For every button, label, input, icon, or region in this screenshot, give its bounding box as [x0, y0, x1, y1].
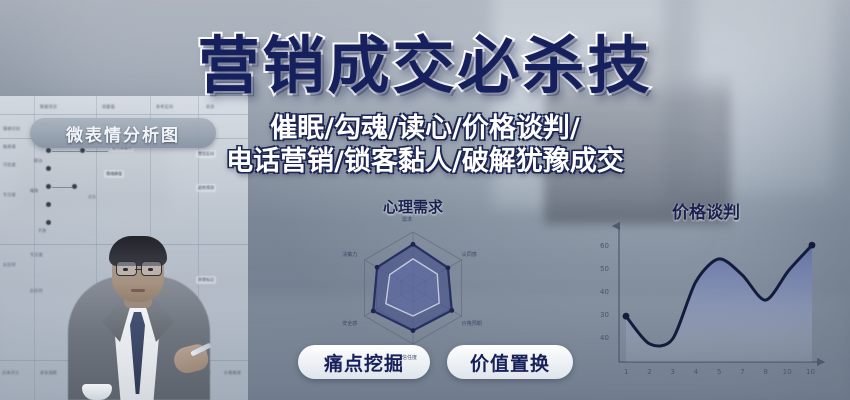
panel-node-dot — [46, 220, 51, 225]
radar-axis-label: 需求 — [402, 216, 412, 223]
marketing-banner: 数据项目 测量值 参考区间 状态 备注 评分 情绪识别 微表情 可信度 专注度 … — [0, 0, 850, 400]
line-chart-x-tick: 7 — [740, 368, 744, 376]
radar-chart-svg — [318, 196, 508, 360]
line-chart-x-tick: 10 — [806, 368, 815, 376]
line-chart-x-tick: 3 — [671, 368, 675, 376]
radar-axis-label: 认同感 — [462, 251, 477, 258]
radar-chart: 心理需求 需求认同感价格预期信任度安全感决策力 — [318, 196, 508, 360]
panel-header-cell: 状态 — [206, 104, 215, 110]
panel-legend-item: 总体评分 — [2, 370, 19, 376]
radar-data-point — [375, 265, 380, 270]
panel-node-dot — [46, 184, 51, 189]
glasses-bridge — [135, 269, 141, 270]
presenter-mouth — [131, 289, 145, 292]
panel-node-label: 嘴角 — [30, 188, 39, 194]
panel-header-cell: 参考区间 — [156, 104, 173, 110]
subtitle-line-2: 电话营销/锁客黏人/破解犹豫成交 — [0, 145, 850, 178]
panel-row-label: 反应时 — [3, 262, 16, 268]
panel-row-label: 专注度 — [3, 192, 16, 198]
panel-annotation: 趋势预测 — [196, 184, 216, 192]
radar-data-point — [446, 265, 451, 270]
line-chart-endpoint — [623, 313, 630, 320]
radar-axis-label: 信任度 — [402, 354, 417, 361]
panel-node-dot — [46, 202, 51, 207]
panel-legend-item: 紧张指数 — [40, 370, 57, 376]
radar-data-point — [411, 328, 416, 333]
radar-axis-label: 决策力 — [342, 251, 357, 258]
line-chart-y-tick: 30 — [600, 311, 609, 319]
radar-axis-label: 价格预期 — [462, 320, 482, 327]
presenter-eye — [123, 268, 128, 271]
line-chart-svg — [586, 196, 826, 382]
line-chart-y-tick: 40 — [600, 334, 609, 342]
panel-legend-item: 价格敏感 — [224, 370, 241, 376]
line-chart-x-tick: 1 — [624, 368, 628, 376]
presenter-eye — [148, 268, 153, 271]
panel-connector — [52, 187, 72, 188]
panel-header-cell: 数据项目 — [40, 104, 57, 110]
line-chart-y-tick: 40 — [600, 288, 609, 296]
panel-sub-label: 专注度 — [30, 252, 43, 258]
line-chart-x-tick: 2 — [647, 368, 651, 376]
line-chart-x-tick: 5 — [717, 368, 721, 376]
micro-expression-label[interactable]: 微表情分析图 — [30, 118, 216, 148]
panel-node-label: 手势 — [38, 228, 47, 234]
line-chart-y-tick: 60 — [600, 242, 609, 250]
radar-chart-title: 心理需求 — [318, 196, 508, 217]
presenter-photo — [62, 196, 214, 400]
line-chart-y-tick: 50 — [600, 265, 609, 273]
line-chart-x-tick: 4 — [694, 368, 698, 376]
radar-data-point — [411, 242, 416, 247]
panel-header-cell: 测量值 — [102, 104, 115, 110]
radar-data-point — [449, 308, 454, 313]
line-chart-x-tick: 10 — [783, 368, 792, 376]
radar-data-point — [371, 309, 376, 314]
line-chart: 价格谈判 6050403040 12345781 — [586, 196, 826, 382]
line-chart-x-tick: 8 — [764, 368, 768, 376]
radar-axis-label: 安全感 — [342, 320, 357, 327]
line-chart-endpoint — [809, 242, 816, 249]
line-chart-title: 价格谈判 — [586, 198, 826, 223]
panel-sub-label: 反应时 — [30, 288, 43, 294]
panel-node-dot — [72, 184, 77, 189]
